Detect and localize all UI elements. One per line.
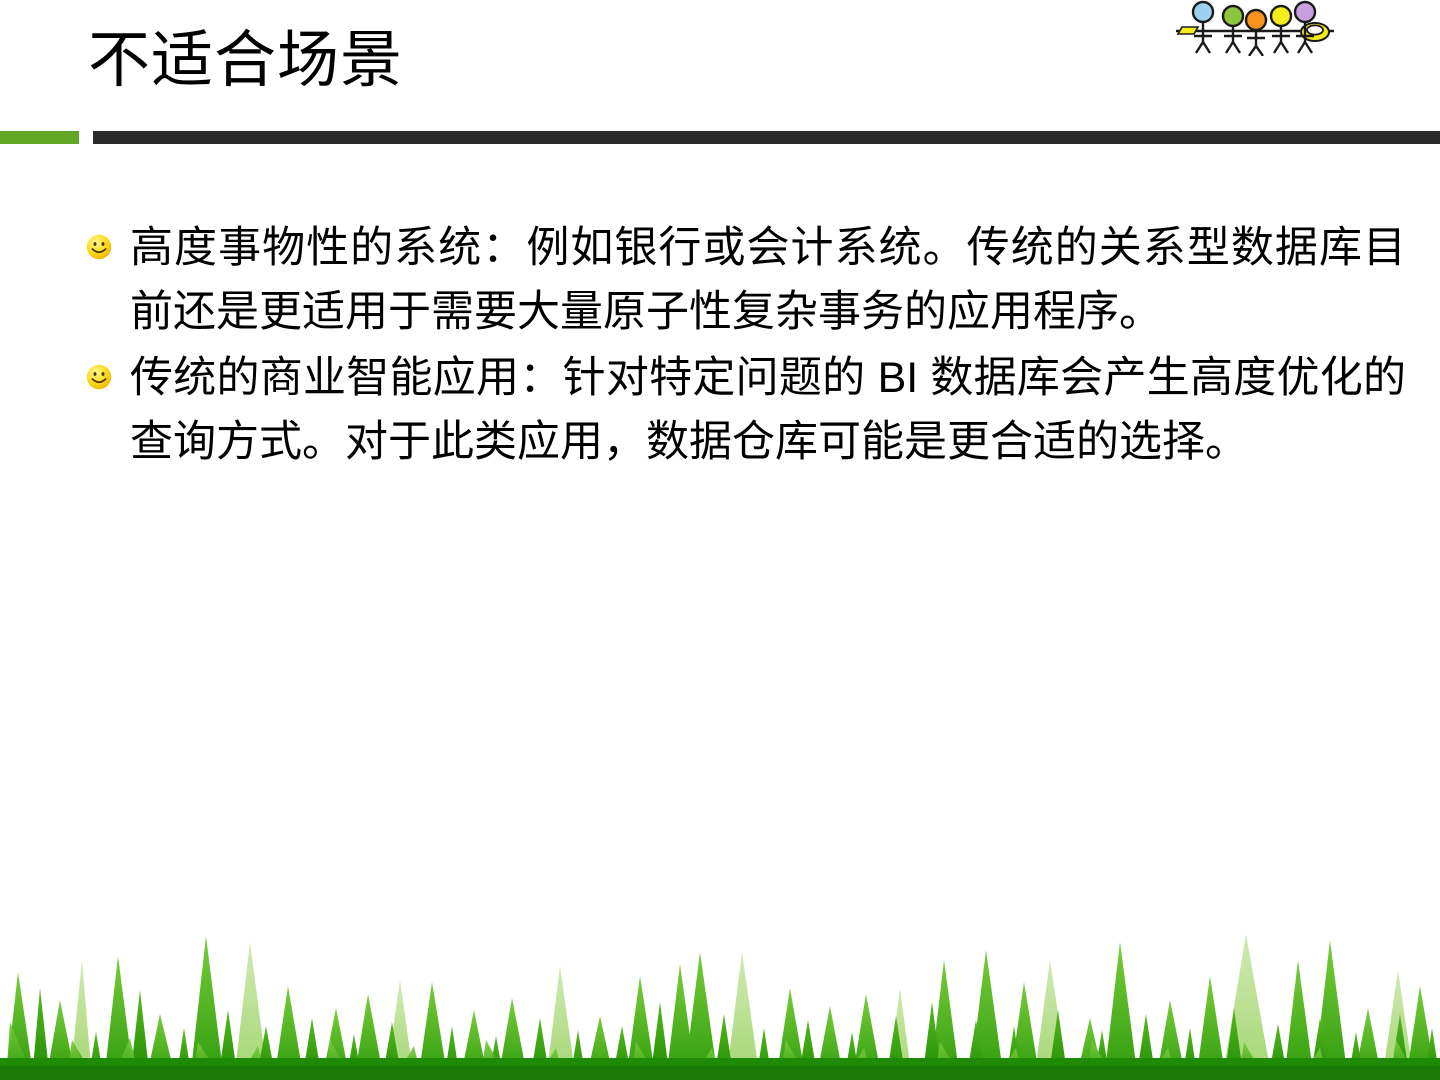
bullet-list: 高度事物性的系统：例如银行或会计系统。传统的关系型数据库目前还是更适用于需要大量… xyxy=(86,216,1406,476)
page-title: 不适合场景 xyxy=(88,28,403,95)
smiley-face-icon xyxy=(86,234,112,260)
list-item-text: 高度事物性的系统：例如银行或会计系统。传统的关系型数据库目前还是更适用于需要大量… xyxy=(130,216,1406,344)
five-people-logo xyxy=(1168,0,1340,56)
title-divider-accent xyxy=(0,131,79,144)
smiley-face-icon xyxy=(86,364,112,390)
list-item-text: 传统的商业智能应用：针对特定问题的 BI 数据库会产生高度优化的查询方式。对于此… xyxy=(130,346,1406,474)
slide-canvas: 不适合场景 xyxy=(0,0,1440,1080)
title-divider-bar xyxy=(93,131,1440,144)
list-item: 传统的商业智能应用：针对特定问题的 BI 数据库会产生高度优化的查询方式。对于此… xyxy=(86,346,1406,474)
grass-decoration xyxy=(0,890,1440,1080)
list-item: 高度事物性的系统：例如银行或会计系统。传统的关系型数据库目前还是更适用于需要大量… xyxy=(86,216,1406,344)
